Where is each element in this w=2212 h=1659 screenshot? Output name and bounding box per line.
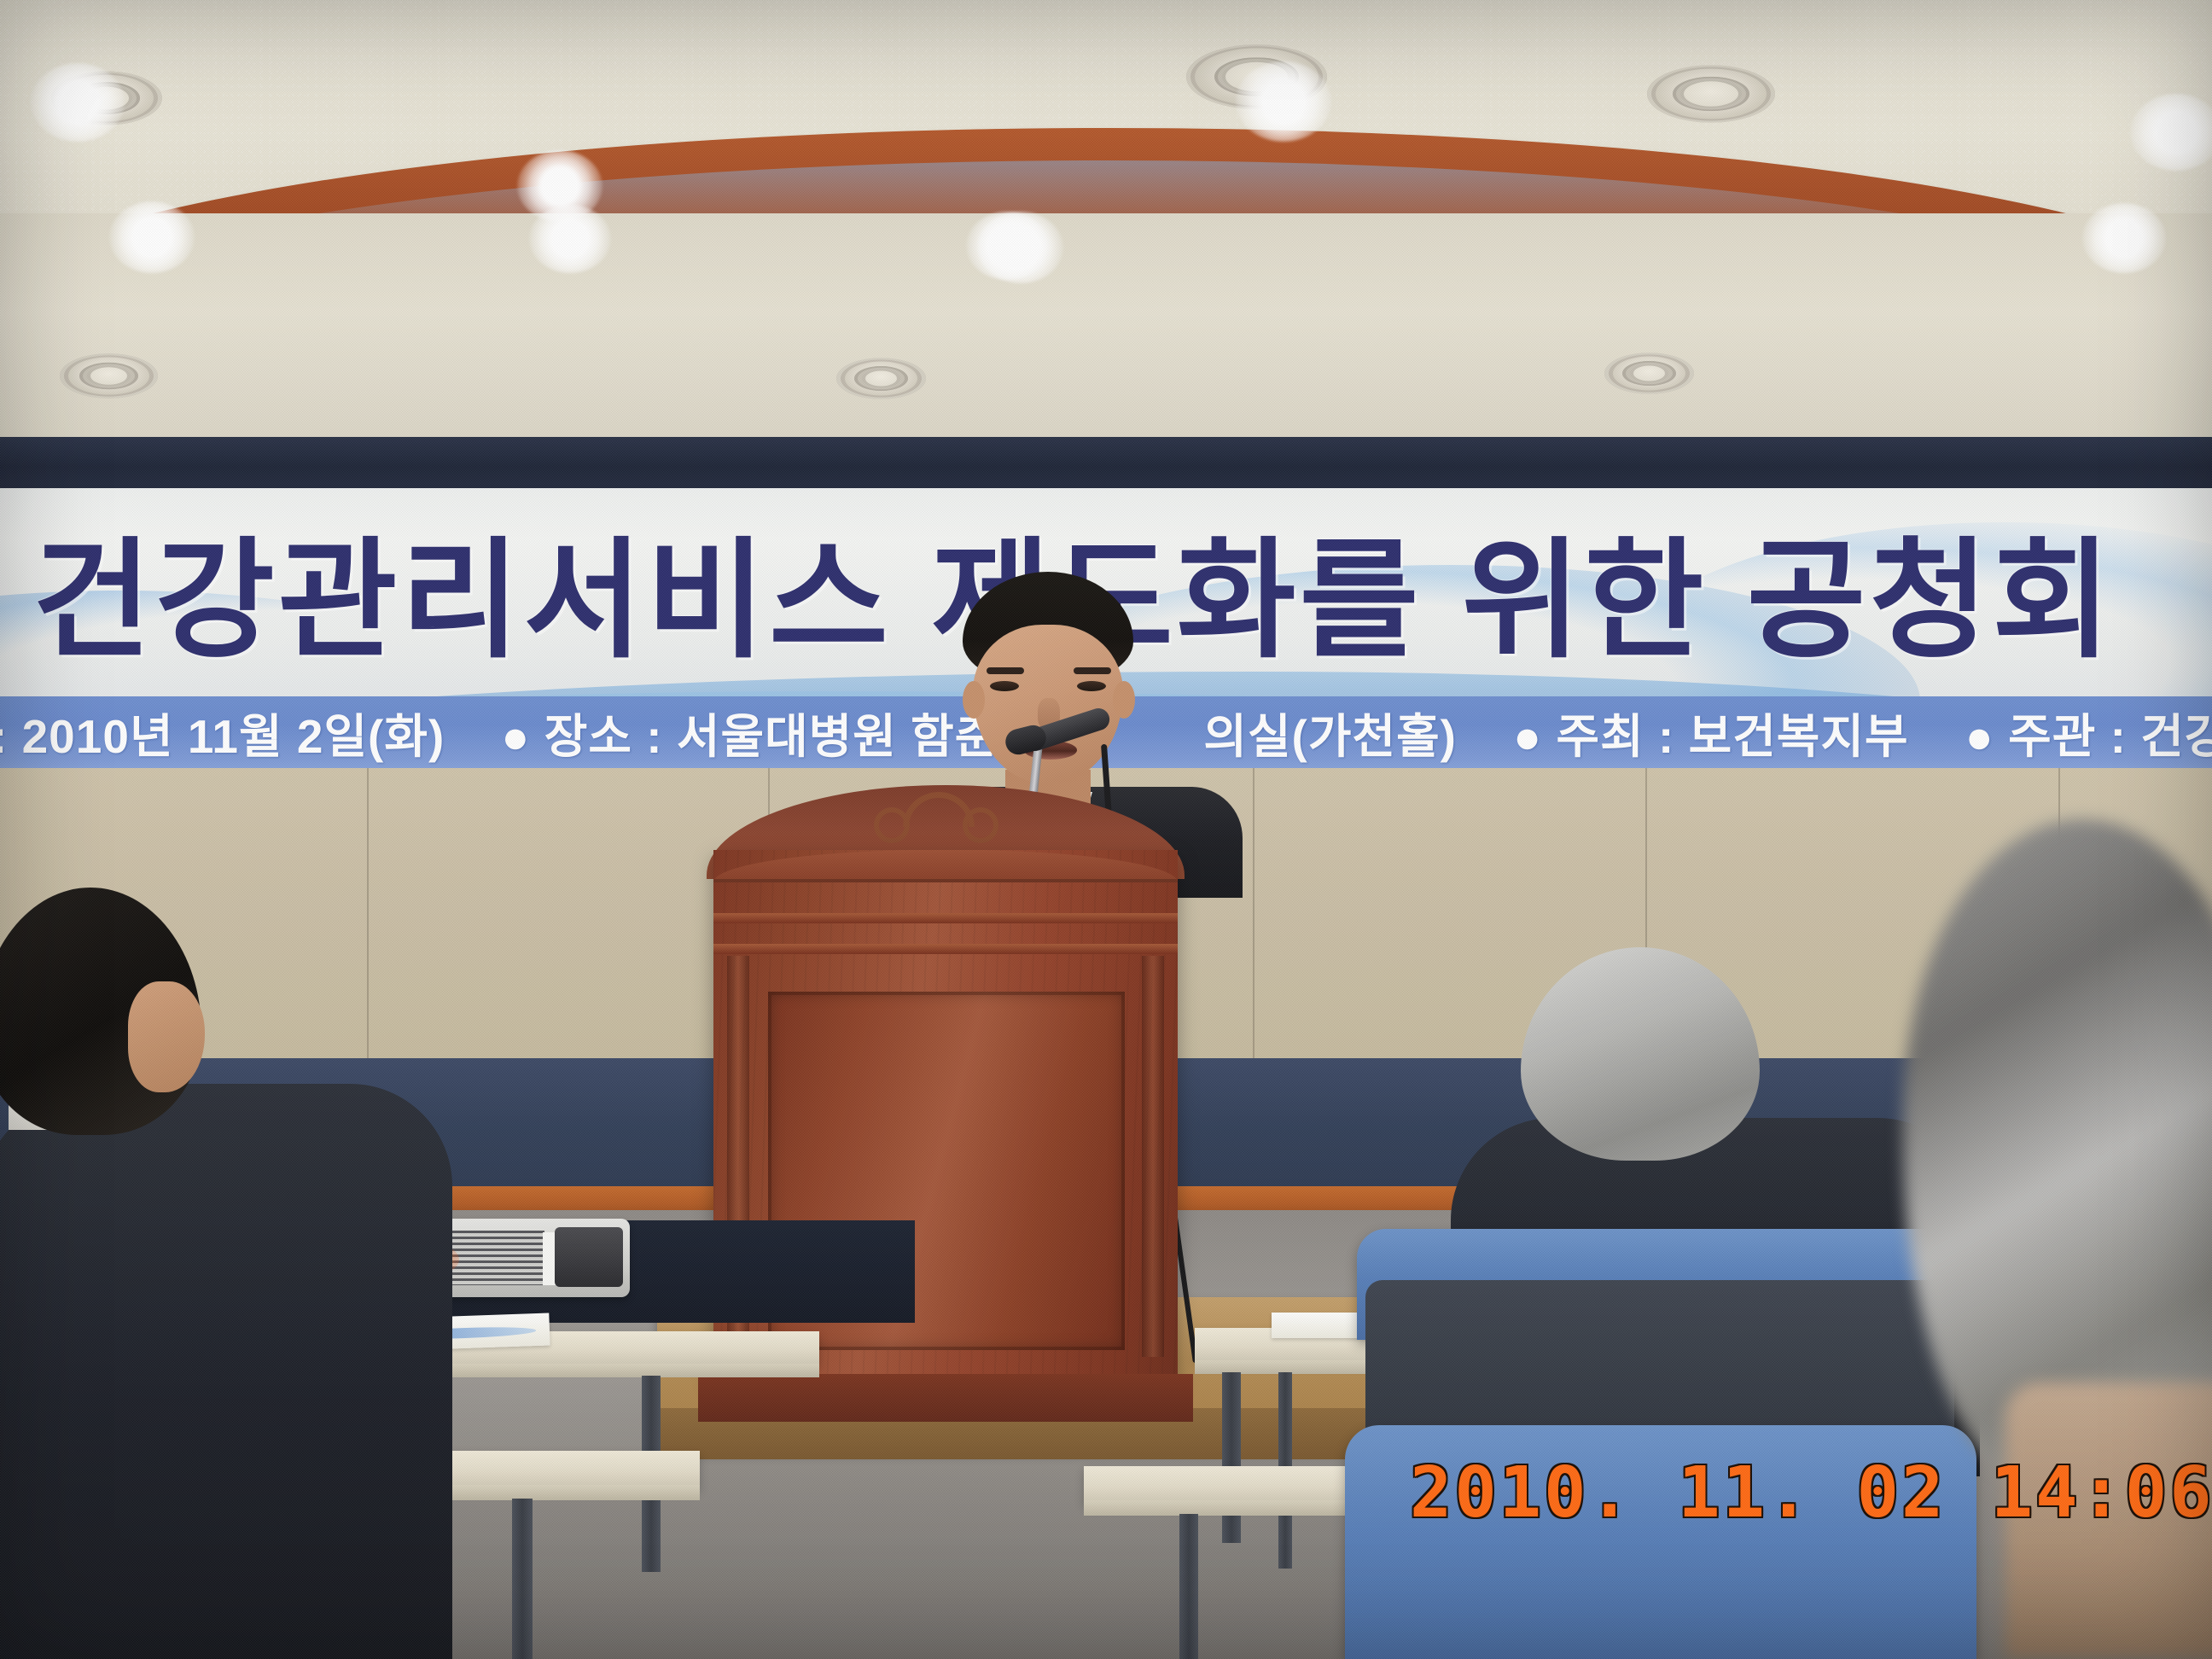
audience-person-torso	[0, 1084, 452, 1659]
air-diffuser-icon	[836, 358, 926, 399]
banner-host-label: ● 주최 :	[1513, 710, 1674, 763]
podium-scroll-ornament	[963, 807, 998, 843]
ceiling-spotlight	[31, 63, 125, 142]
speaker-eye	[990, 681, 1019, 691]
ceiling-spotlight	[109, 201, 195, 273]
banner-host-text: 보건복지부	[1689, 710, 1909, 763]
banner-organizer-label: ● 주관 :	[1965, 710, 2127, 763]
conference-photo: 건강관리서비스 제도화를 위한 공청회 : 2010년 11월 2일(화)● 장…	[0, 0, 2212, 1659]
speaker-eyebrow	[1074, 667, 1111, 674]
table-leg	[512, 1499, 533, 1659]
wall-panel-seam	[367, 768, 369, 1062]
podium-moulding	[713, 913, 1178, 923]
podium-pilaster	[1142, 956, 1164, 1357]
banner-date: : 2010년 11월 2일(화)	[0, 710, 445, 763]
wall-panel-seam	[1253, 768, 1254, 1062]
ceiling-spotlight	[966, 212, 1048, 280]
speaker-eyebrow	[987, 667, 1024, 674]
podium-scroll-ornament	[874, 807, 910, 843]
air-diffuser-icon	[1647, 65, 1775, 122]
ceiling-spotlight	[2082, 203, 2166, 273]
speaker-eye	[1077, 681, 1106, 691]
air-diffuser-icon	[1604, 352, 1694, 393]
podium-base	[698, 1374, 1193, 1422]
ceiling-spotlight	[529, 205, 611, 273]
banner-venue-label: ● 장소 :	[501, 710, 662, 763]
table-leg	[1179, 1514, 1198, 1659]
air-diffuser-icon	[60, 353, 158, 399]
projector-rear-housing	[555, 1227, 623, 1287]
table-leg	[1222, 1372, 1241, 1543]
banner-venue-text2: 의실(가천홀)	[1203, 710, 1457, 763]
camera-timestamp: 2010. 11. 02 14:06	[1410, 1452, 2212, 1534]
speaker-ear	[1113, 681, 1135, 719]
banner-organizer-text: 건강증진사	[2140, 710, 2212, 763]
podium-moulding	[713, 944, 1178, 954]
speaker-ear	[963, 681, 985, 719]
ceiling-lower-section	[0, 213, 2212, 461]
ceiling-spotlight	[1236, 61, 1331, 142]
